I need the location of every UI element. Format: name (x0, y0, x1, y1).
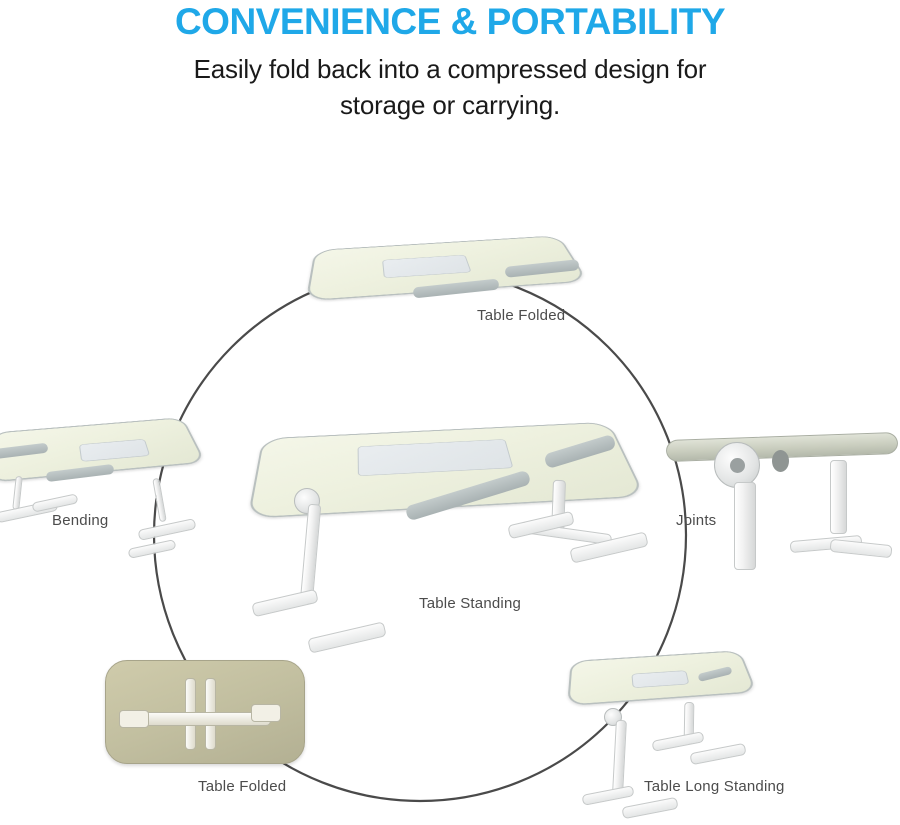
leg-foot-right-rear (127, 539, 176, 559)
caption-joints: Joints (676, 512, 716, 529)
figure-bending (0, 398, 213, 578)
folded-leg-crossbar (129, 712, 271, 726)
infographic-root: CONVENIENCE & PORTABILITY Easily fold ba… (0, 0, 900, 825)
caption-table-standing: Table Standing (419, 595, 521, 612)
leg-clip-left (119, 710, 149, 728)
subtitle-line-2: storage or carrying. (0, 87, 900, 123)
header-block: CONVENIENCE & PORTABILITY Easily fold ba… (0, 0, 900, 123)
subtitle-line-1: Easily fold back into a compressed desig… (0, 51, 900, 87)
caption-table-folded-bottom: Table Folded (198, 778, 286, 795)
leg-foot-right (137, 518, 196, 541)
joint-socket-hole (772, 450, 789, 472)
leg-foot-left-front (251, 589, 318, 617)
leg-post-left (12, 476, 23, 511)
leg-foot-left-rear (307, 621, 386, 653)
caption-bending: Bending (52, 512, 108, 529)
caption-table-long-standing: Table Long Standing (644, 778, 785, 795)
leg-post-rear (830, 460, 847, 534)
leg-foot-left-front (581, 785, 634, 806)
leg-post-left (612, 720, 627, 794)
leg-clip-right (251, 704, 281, 722)
leg-post-front (734, 482, 756, 570)
figure-joints (662, 420, 900, 595)
leg-foot-rear (829, 539, 892, 558)
page-title: CONVENIENCE & PORTABILITY (0, 2, 900, 42)
caption-table-folded-top: Table Folded (477, 307, 565, 324)
leg-post-right (152, 478, 167, 523)
figure-table-folded-bottom (105, 660, 310, 770)
page-subtitle: Easily fold back into a compressed desig… (0, 51, 900, 123)
leg-foot-right-rear (689, 743, 746, 765)
leg-foot-right-front (651, 731, 704, 752)
leg-foot-left-rear (621, 797, 678, 819)
joint-center-pin (730, 458, 745, 473)
